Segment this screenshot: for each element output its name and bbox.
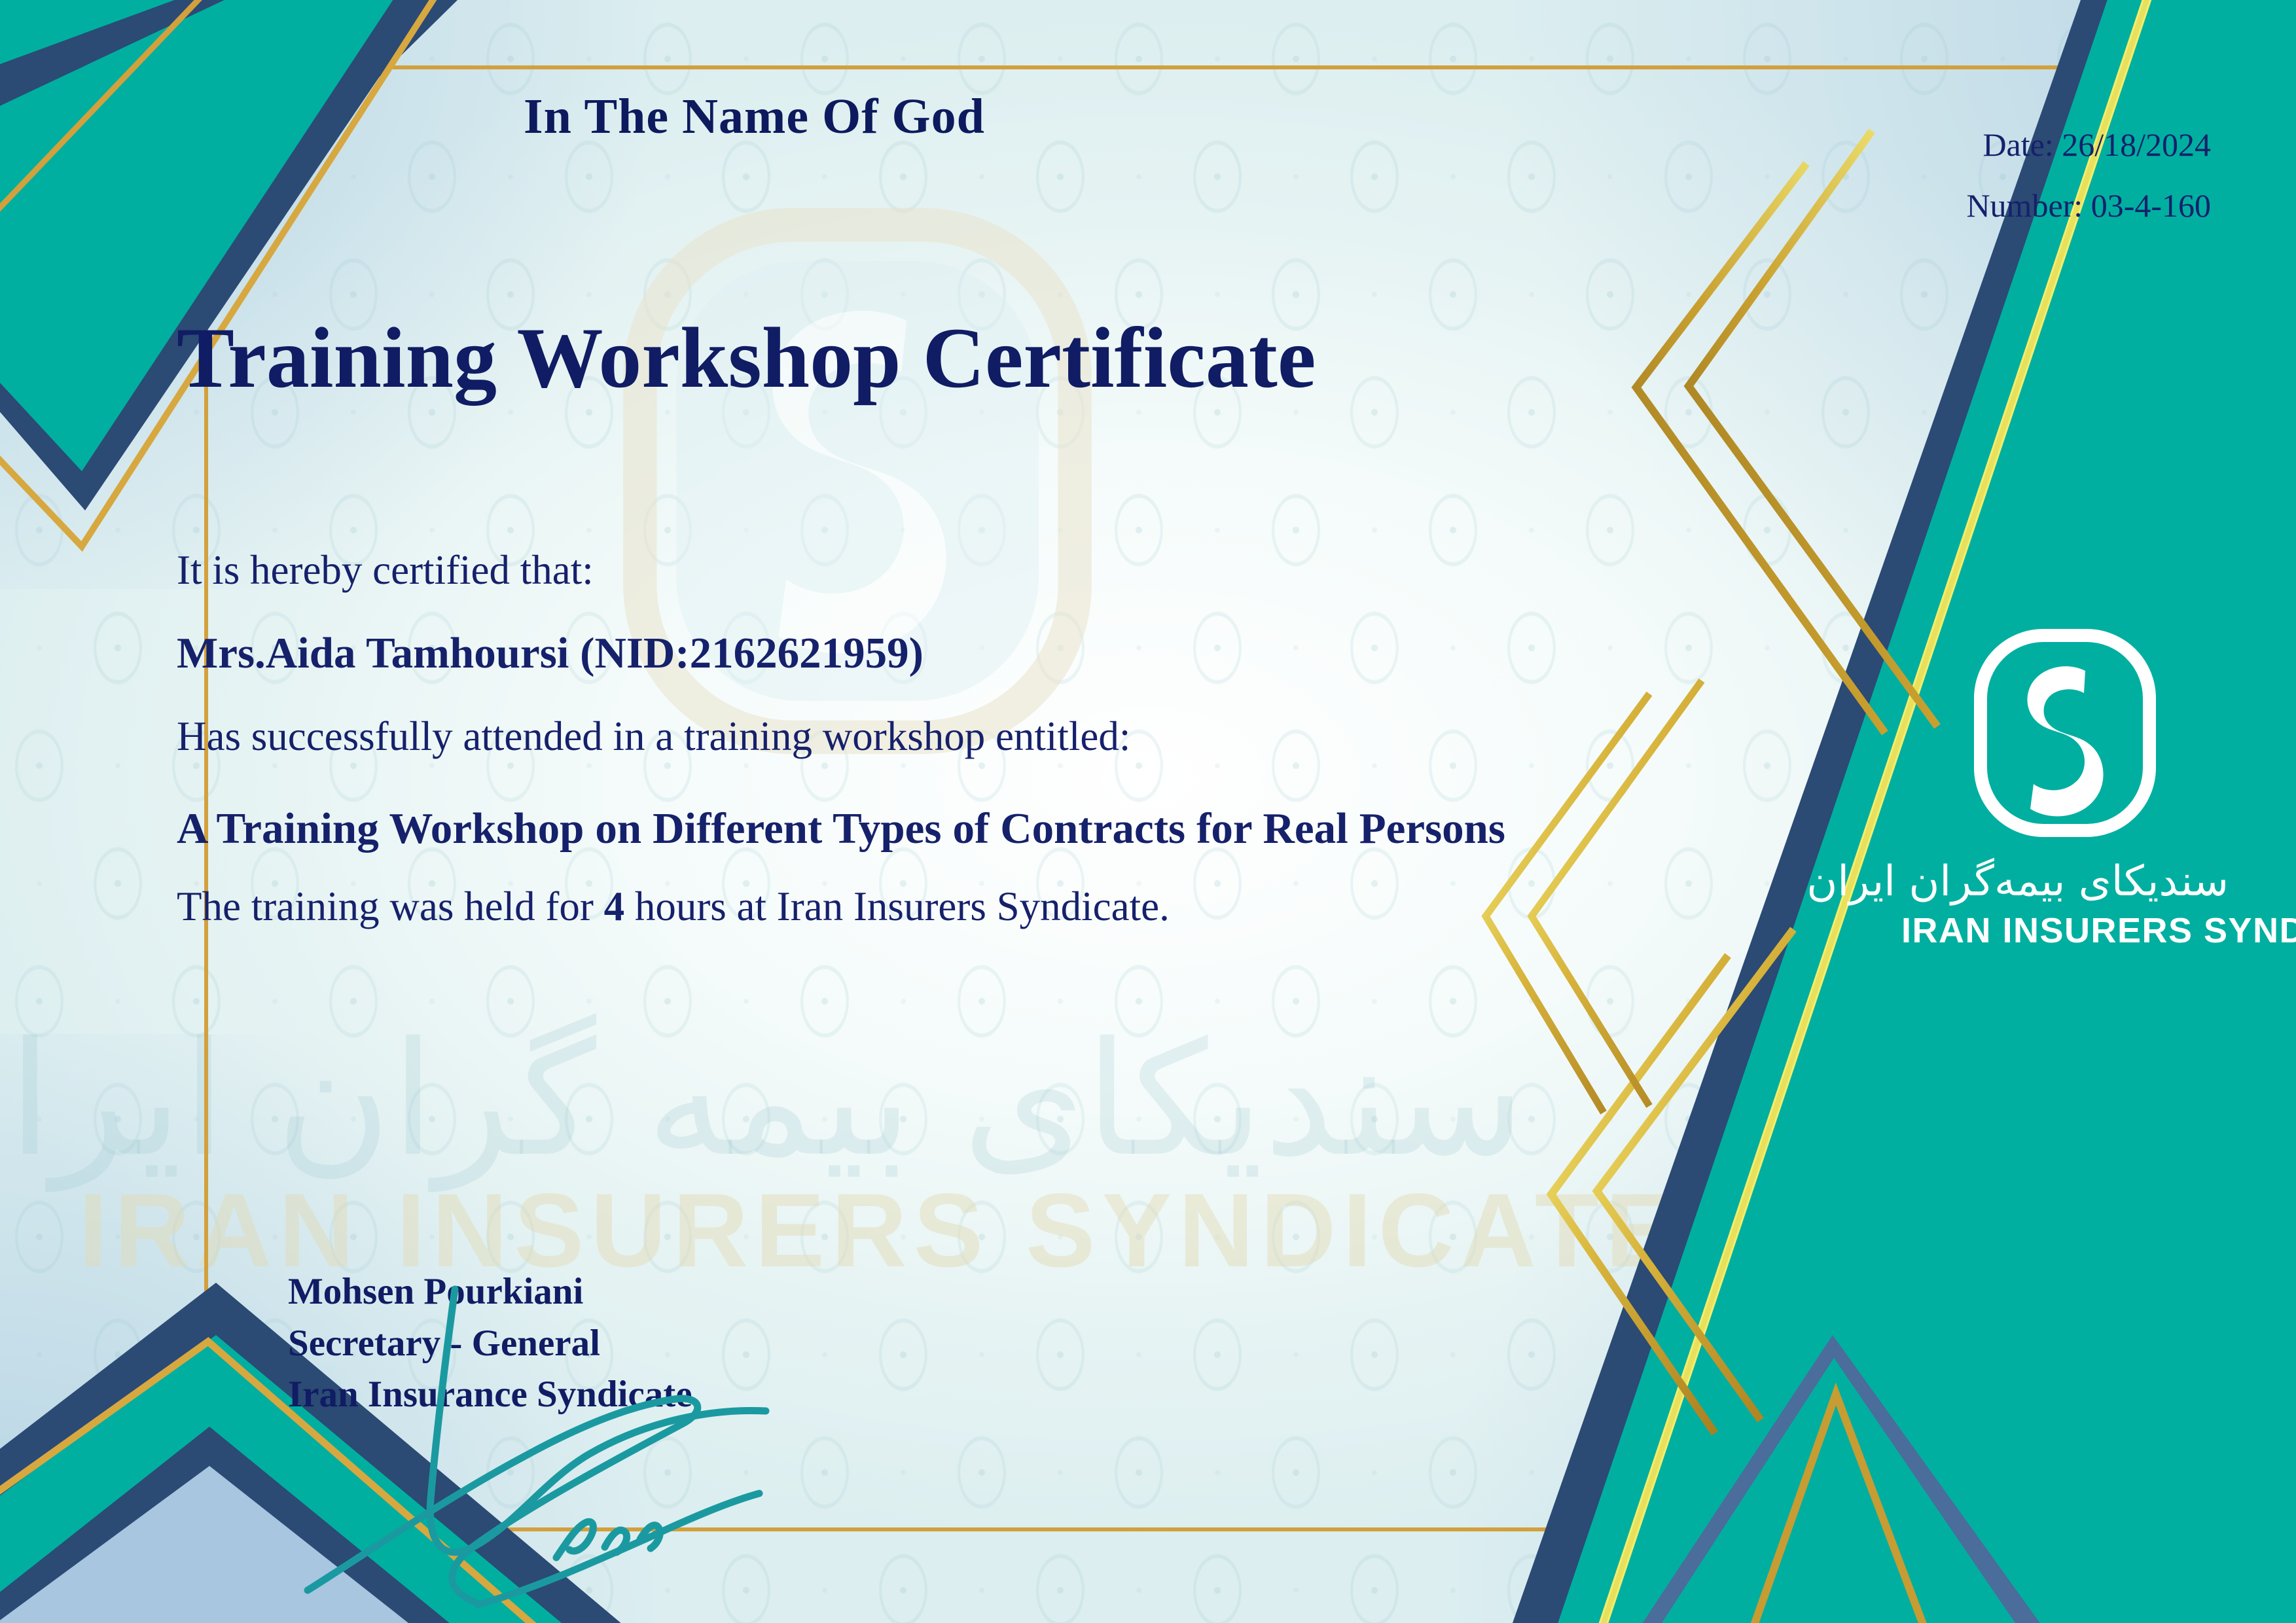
workshop-title: A Training Workshop on Different Types o…: [177, 798, 1505, 860]
issue-date: Date: 26/18/2024: [1966, 115, 2211, 175]
duration-suffix: hours at Iran Insurers Syndicate.: [635, 883, 1170, 929]
signatory-role: Secretary - General: [288, 1318, 692, 1370]
duration-line: The training was held for 4 hours at Ira…: [177, 886, 1505, 927]
certificate-page: سندیکای بیمه گران ایران IRAN INSURERS SY…: [0, 0, 2296, 1623]
logo-name-fa: سندیکای بیمه‌گران ایران: [1901, 858, 2229, 906]
signatory-organization: Iran Insurance Syndicate: [288, 1369, 692, 1421]
syndicate-logo-block: سندیکای بیمه‌گران ایران IRAN INSURERS SY…: [1901, 625, 2229, 951]
certify-line: It is hereby certified that:: [177, 550, 1505, 591]
logo-name-en: IRAN INSURERS SYNDICATE: [1901, 910, 2229, 951]
certificate-number: Number: 03-4-160: [1966, 175, 2211, 236]
signatory-block: Mohsen Pourkiani Secretary - General Ira…: [288, 1266, 692, 1421]
syndicate-logo-icon: [1970, 625, 2160, 841]
recipient-name: Mrs.Aida Tamhoursi (NID:2162621959): [177, 632, 1505, 675]
duration-hours: 4: [604, 883, 625, 929]
page-title: Training Workshop Certificate: [177, 308, 1316, 408]
signatory-name: Mohsen Pourkiani: [288, 1266, 692, 1318]
bismillah-heading: In The Name Of God: [524, 88, 985, 145]
duration-prefix: The training was held for: [177, 883, 594, 929]
attendance-line: Has successfully attended in a training …: [177, 716, 1505, 757]
certificate-meta: Date: 26/18/2024 Number: 03-4-160: [1966, 115, 2211, 236]
certificate-body: It is hereby certified that: Mrs.Aida Ta…: [177, 550, 1505, 968]
